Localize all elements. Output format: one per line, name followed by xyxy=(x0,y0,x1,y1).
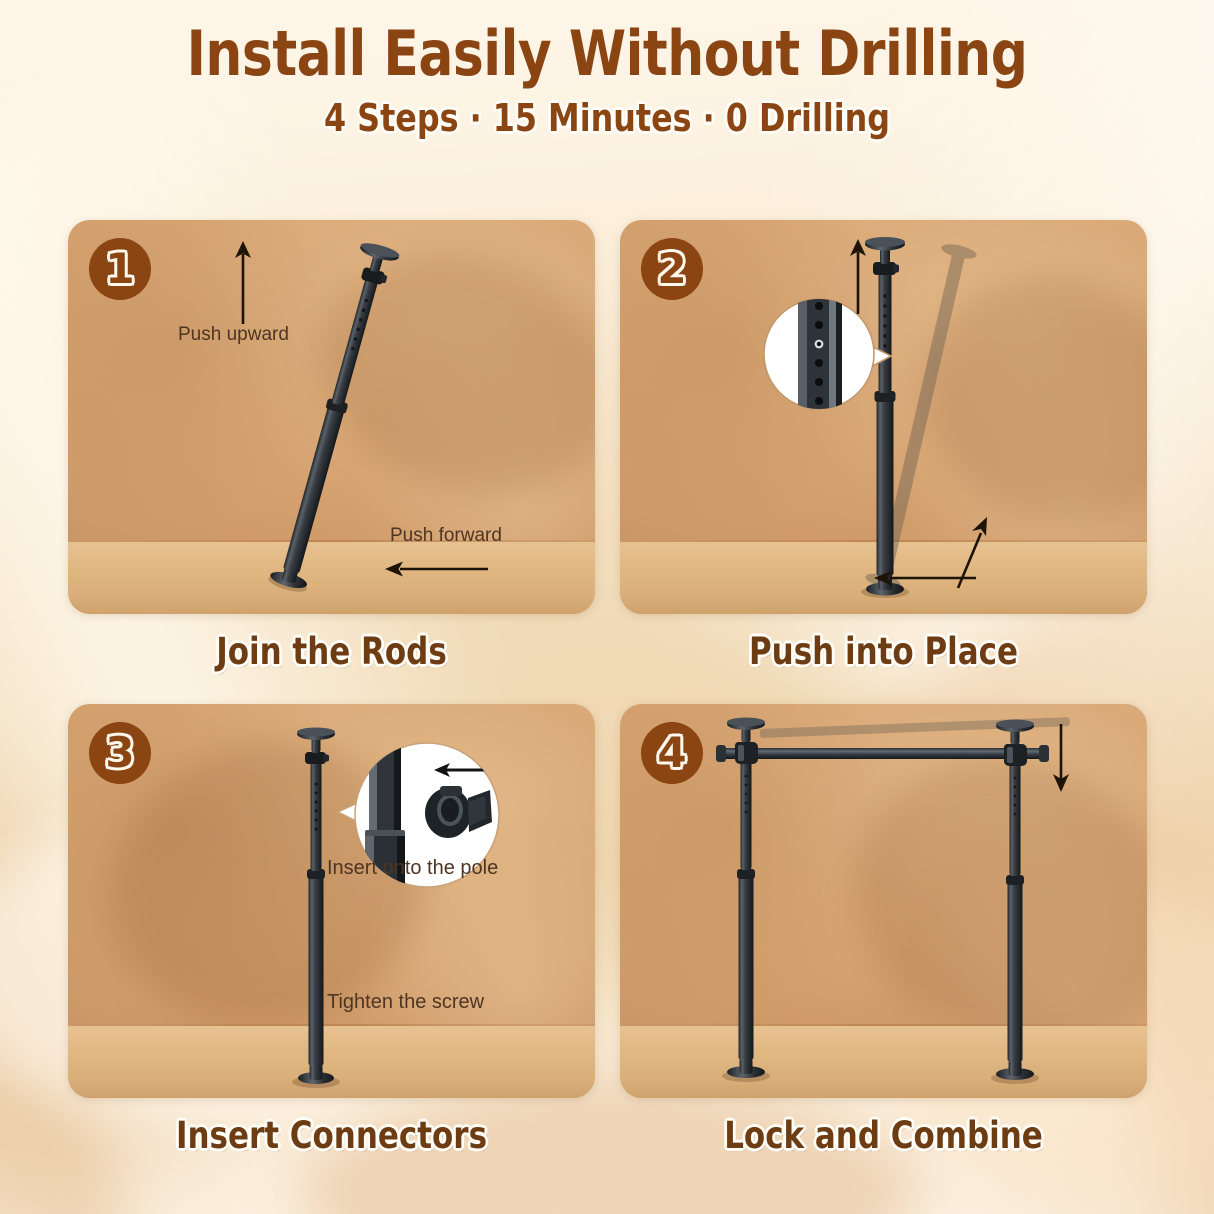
annotation-insert-onto-pole: Insert onto the pole xyxy=(327,857,498,880)
step-caption-2: Push into Place xyxy=(638,630,1128,673)
step-image-1: Push upward Push forward 1 xyxy=(68,220,595,614)
annotation-push-upward: Push upward xyxy=(178,324,289,346)
step-image-2: 2 xyxy=(620,220,1147,614)
step-number-4: 4 xyxy=(657,732,686,774)
step-image-4: 4 xyxy=(620,704,1147,1098)
steps-row-2: Insert onto the pole Tighten the screw 3… xyxy=(68,704,1147,1157)
step-number-3: 3 xyxy=(105,732,134,774)
page-title: Install Easily Without Drilling xyxy=(42,22,1171,86)
step-badge-1: 1 xyxy=(89,238,151,300)
step-card-4: 4 Lock and Combine xyxy=(620,704,1147,1157)
step-image-3: Insert onto the pole Tighten the screw 3 xyxy=(68,704,595,1098)
step-card-3: Insert onto the pole Tighten the screw 3… xyxy=(68,704,595,1157)
step-number-2: 2 xyxy=(657,248,686,290)
arrow-left-icon xyxy=(380,557,490,581)
step-badge-4: 4 xyxy=(641,722,703,784)
annotation-tighten-screw: Tighten the screw xyxy=(327,991,484,1014)
annotation-push-forward: Push forward xyxy=(390,525,502,547)
steps-row-1: Push upward Push forward 1 Join the Rods xyxy=(68,220,1147,673)
header: Install Easily Without Drilling 4 Steps … xyxy=(0,22,1214,140)
arrow-down-icon xyxy=(1048,722,1074,794)
arrow-up-icon xyxy=(228,238,258,324)
step-caption-1: Join the Rods xyxy=(86,630,576,673)
step-card-1: Push upward Push forward 1 Join the Rods xyxy=(68,220,595,673)
step-number-1: 1 xyxy=(105,248,134,290)
step-caption-3: Insert Connectors xyxy=(86,1114,576,1157)
arrow-diagonal-up-icon xyxy=(953,512,993,592)
page-subtitle: 4 Steps · 15 Minutes · 0 Drilling xyxy=(42,96,1171,140)
step-card-2: 2 Push into Place xyxy=(620,220,1147,673)
step-badge-3: 3 xyxy=(89,722,151,784)
step-caption-4: Lock and Combine xyxy=(638,1114,1128,1157)
arrow-up-icon xyxy=(845,236,871,314)
step-badge-2: 2 xyxy=(641,238,703,300)
steps-grid: Push upward Push forward 1 Join the Rods xyxy=(68,220,1147,1157)
callout-adjustment-holes-zoom xyxy=(763,298,893,414)
